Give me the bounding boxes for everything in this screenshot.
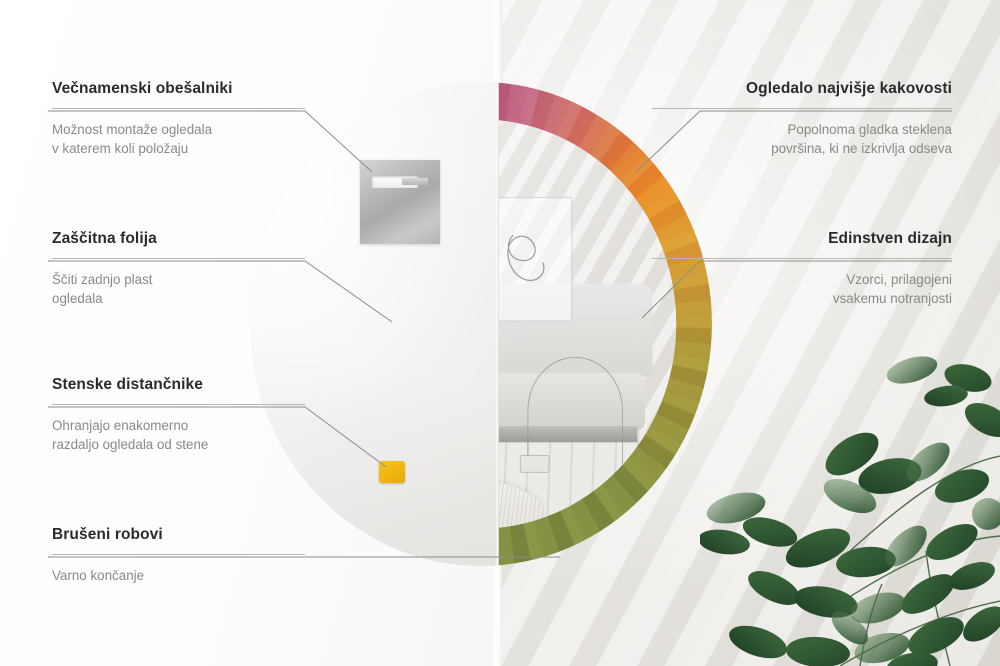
- callout-unique-design: Edinstven dizajn Vzorci, prilagojenivsak…: [652, 230, 952, 308]
- callout-rule: [52, 554, 305, 555]
- desc-line-2: površina, ki ne izkrivlja odseva: [771, 141, 952, 156]
- callout-polished-edges: Brušeni robovi Varno končanje: [52, 526, 305, 585]
- hanger-keyhole-slot: [372, 176, 418, 188]
- callout-title-hangers: Večnamenski obešalniki: [52, 80, 305, 99]
- wall-spacer-block: [379, 461, 405, 483]
- desc-line-1: Ohranjajo enakomerno: [52, 418, 188, 433]
- desc-line-2: v katerem koli položaju: [52, 141, 188, 156]
- mirror-disc: [250, 82, 712, 566]
- callout-title-foil: Zaščitna folija: [52, 230, 305, 249]
- callout-rule: [52, 258, 305, 259]
- callout-hangers: Večnamenski obešalniki Možnost montaže o…: [52, 80, 305, 158]
- callout-desc-design: Vzorci, prilagojenivsakemu notranjosti: [652, 270, 952, 308]
- callout-title-design: Edinstven dizajn: [652, 230, 952, 249]
- callout-rule: [52, 404, 305, 405]
- mirror-glass: [497, 120, 676, 529]
- infographic-canvas: Večnamenski obešalniki Možnost montaže o…: [0, 0, 1000, 666]
- desc-line-2: razdaljo ogledala od stene: [52, 437, 208, 452]
- callout-protective-foil: Zaščitna folija Ščiti zadnjo plastogleda…: [52, 230, 305, 308]
- callout-desc-quality: Popolnoma gladka steklenapovršina, ki ne…: [652, 120, 952, 158]
- callout-desc-hangers: Možnost montaže ogledalav katerem koli p…: [52, 120, 305, 158]
- callout-desc-spacers: Ohranjajo enakomernorazdaljo ogledala od…: [52, 416, 305, 454]
- mirror-half-seam: [496, 82, 499, 566]
- callout-title-quality: Ogledalo najvišje kakovosti: [652, 80, 952, 99]
- callout-top-quality-mirror: Ogledalo najvišje kakovosti Popolnoma gl…: [652, 80, 952, 158]
- desc-line-1: Popolnoma gladka steklena: [787, 122, 952, 137]
- wall-hanger-plate: [360, 160, 440, 244]
- callout-desc-foil: Ščiti zadnjo plastogledala: [52, 270, 305, 308]
- scene-floor-lamp-arc: [528, 357, 623, 464]
- desc-line-2: vsakemu notranjosti: [833, 291, 952, 306]
- scene-wall-art-frame: [497, 197, 572, 321]
- callout-rule: [52, 108, 305, 109]
- desc-line-2: ogledala: [52, 291, 103, 306]
- desc-line-1: Ščiti zadnjo plast: [52, 272, 152, 287]
- callout-wall-spacers: Stenske distančnike Ohranjajo enakomerno…: [52, 376, 305, 454]
- callout-rule: [652, 108, 952, 109]
- reflected-room-scene: [497, 120, 676, 529]
- callout-title-spacers: Stenske distančnike: [52, 376, 305, 395]
- scene-floor-lamp-head: [520, 455, 549, 473]
- mirror-product: [250, 82, 712, 566]
- callout-title-edges: Brušeni robovi: [52, 526, 305, 545]
- desc-line-1: Vzorci, prilagojeni: [846, 272, 952, 287]
- line-art-icon: [497, 213, 561, 304]
- desc-line-1: Možnost montaže ogledala: [52, 122, 212, 137]
- callout-rule: [652, 258, 952, 259]
- callout-desc-edges: Varno končanje: [52, 566, 305, 585]
